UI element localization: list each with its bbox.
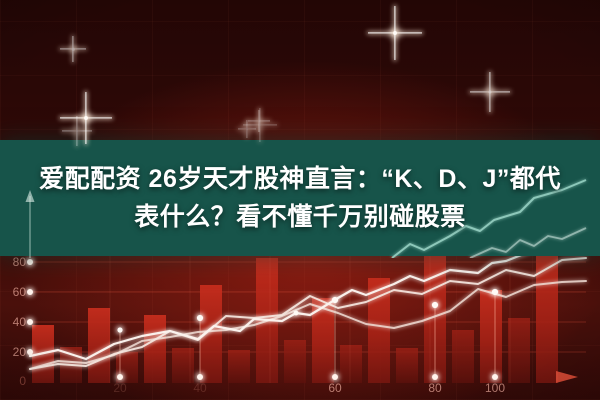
x-tick-label-20: 20: [100, 381, 140, 395]
marker-dot: [332, 297, 338, 303]
marker-dot: [432, 302, 438, 308]
marker-dot: [294, 311, 299, 316]
bar: [508, 318, 530, 383]
bar: [144, 315, 166, 383]
y-tick-label-40: 40: [0, 315, 26, 329]
bar: [452, 330, 474, 383]
x-tick-label-40: 40: [180, 381, 220, 395]
bar: [88, 308, 110, 383]
y-tick-label-0: 0: [0, 374, 26, 388]
marker-dot: [492, 289, 498, 295]
poster-root: 100 80 60 40 20 0 20 40 60 80 100 爱配配资 2…: [0, 0, 600, 400]
x-tick-label-100: 100: [475, 381, 515, 395]
bar: [480, 290, 502, 383]
marker-dot: [197, 315, 203, 321]
y-tick-label-20: 20: [0, 345, 26, 359]
x-tick-label-80: 80: [415, 381, 455, 395]
y-tick-label-60: 60: [0, 285, 26, 299]
x-tick-label-60: 60: [315, 381, 355, 395]
chart-line-3: [30, 281, 586, 369]
y-tick-label-80: 80: [0, 255, 26, 269]
title-band: [0, 140, 600, 256]
marker-dot: [117, 327, 122, 332]
bar: [228, 350, 250, 383]
arrow-right-icon: [556, 371, 578, 383]
